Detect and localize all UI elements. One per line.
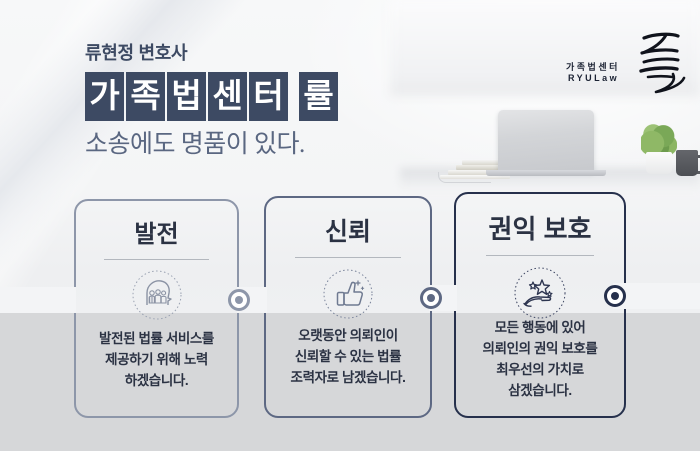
card-title: 권익 보호 [456,216,624,242]
hand-with-stars-icon [513,266,567,325]
card-title: 신뢰 [266,220,430,245]
connector-strip [0,287,76,313]
tagline: 소송에도 명품이 있다. [85,131,415,160]
connector-dot-core [427,294,435,302]
card-body-text: 오랫동안 의뢰인이 신뢰할 수 있는 법률 조력자로 남겠습니다. [272,326,424,389]
header-block: 류현정 변호사 가 족 법 센 터 률 소송에도 명품이 있다. [85,44,415,160]
brand-boxes: 가 족 법 센 터 [85,72,290,121]
brand-box-char: 터 [249,72,288,121]
card-divider [486,255,594,256]
brand-box-char: 센 [208,72,247,121]
value-card-rights-protection[interactable]: 권익 보호 모든 행동에 있어 의뢰인의 권익 보호를 최우선의 가치로 삼겠습… [454,192,626,418]
logo-english-text: RYULaw [568,73,619,83]
calligraphy-brush-logo-icon [632,30,686,94]
laptop-icon [498,110,594,172]
thumbs-up-icon [322,268,374,325]
connector-strip [613,283,700,309]
head-with-people-icon [131,269,183,326]
plant-pot [646,152,672,174]
card-body-text: 발전된 법률 서비스를 제공하기 위해 노력 하겠습니다. [82,329,231,392]
laptop-cable [438,172,491,183]
laptop-base [486,170,606,176]
attorney-name: 류현정 변호사 [85,44,415,64]
brand-logo: 가족법센터 RYULaw [566,34,686,96]
card-body-text: 모든 행동에 있어 의뢰인의 권익 보호를 최우선의 가치로 삼겠습니다. [462,318,618,402]
brand-box-char: 족 [126,72,165,121]
brand-box-accent: 률 [299,72,338,121]
connector-dot-core [235,296,243,304]
connector-dot-3 [604,285,626,307]
brand-title: 가 족 법 센 터 률 [85,72,415,121]
logo-korean-text: 가족법센터 [566,60,620,73]
card-divider [104,259,209,260]
connector-dot-1 [228,289,250,311]
brand-box-char: 가 [85,72,124,121]
connector-dot-core [611,292,619,300]
value-card-trust[interactable]: 신뢰 오랫동안 의뢰인이 신뢰할 수 있는 법률 조력자로 남겠습니다. [264,196,432,418]
value-card-development[interactable]: 발전 발전된 법률 서비스를 제공하기 위해 노력 하겠습니다. [74,199,239,418]
card-divider [295,257,401,258]
coffee-mug-icon [676,150,698,176]
connector-dot-2 [420,287,442,309]
promo-banner: 류현정 변호사 가 족 법 센 터 률 소송에도 명품이 있다. 가족법센터 R… [0,0,700,451]
card-title: 발전 [76,223,237,247]
brand-box-char: 법 [167,72,206,121]
